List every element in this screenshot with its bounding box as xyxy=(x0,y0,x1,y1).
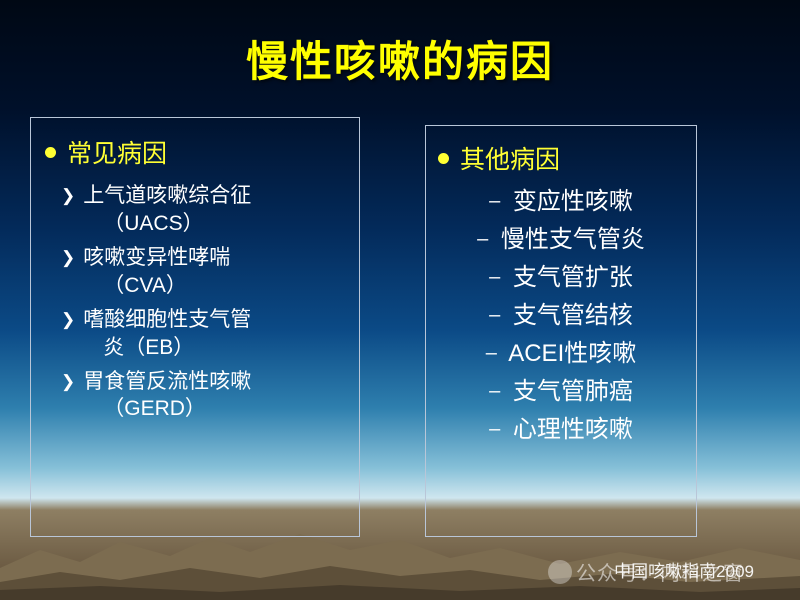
dash-icon: – xyxy=(477,228,488,250)
list-item-label: 变应性咳嗽 xyxy=(513,188,633,215)
dash-icon: – xyxy=(489,190,500,212)
list-item: ❯ 咳嗽变异性哮喘 （CVA） xyxy=(45,244,359,300)
list-item-label: ACEI性咳嗽 xyxy=(508,340,636,367)
left-box-heading-label: 常见病因 xyxy=(67,134,167,170)
list-item: – 支气管肺癌 xyxy=(426,380,696,404)
list-item: ❯ 胃食管反流性咳嗽 （GERD） xyxy=(45,368,359,424)
page-title: 慢性咳嗽的病因 xyxy=(0,28,800,89)
list-item-line2: （GERD） xyxy=(103,395,251,423)
watermark-logo-icon xyxy=(548,560,572,584)
list-item: – 支气管结核 xyxy=(426,304,696,328)
arrow-right-icon: ❯ xyxy=(61,309,75,332)
dash-icon: – xyxy=(486,342,497,364)
list-item-line1: 咳嗽变异性哮喘 xyxy=(83,246,230,269)
dash-icon: – xyxy=(489,380,500,402)
list-item: – 变应性咳嗽 xyxy=(426,190,696,214)
left-box-list: ❯ 上气道咳嗽综合征 （UACS） ❯ 咳嗽变异性哮喘 （CVA） ❯ 嗜酸细胞… xyxy=(45,182,359,423)
list-item: ❯ 上气道咳嗽综合征 （UACS） xyxy=(45,182,359,238)
list-item-line1: 嗜酸细胞性支气管 xyxy=(83,308,251,331)
list-item-label: 支气管肺癌 xyxy=(513,378,633,405)
footer-credit: 中国咳嗽指南2009 xyxy=(614,557,754,582)
left-content-box: 常见病因 ❯ 上气道咳嗽综合征 （UACS） ❯ 咳嗽变异性哮喘 （CVA） ❯ xyxy=(30,117,360,537)
slide: 慢性咳嗽的病因 常见病因 ❯ 上气道咳嗽综合征 （UACS） ❯ 咳嗽变异性哮喘… xyxy=(0,0,800,600)
dash-icon: – xyxy=(489,304,500,326)
list-item-label: 支气管扩张 xyxy=(513,264,633,291)
list-item: – 心理性咳嗽 xyxy=(426,418,696,442)
list-item: – 支气管扩张 xyxy=(426,266,696,290)
list-item-line1: 胃食管反流性咳嗽 xyxy=(83,370,251,393)
right-content-box: 其他病因 – 变应性咳嗽 – 慢性支气管炎 – 支气管扩张 – 支气管结核 – … xyxy=(425,125,697,537)
left-box-heading: 常见病因 xyxy=(45,134,359,170)
list-item-line2: （UACS） xyxy=(103,210,251,238)
list-item-line1: 上气道咳嗽综合征 xyxy=(83,184,251,207)
right-box-heading: 其他病因 xyxy=(438,140,696,176)
list-item-line2: （CVA） xyxy=(103,272,230,300)
arrow-right-icon: ❯ xyxy=(61,371,75,394)
right-box-list: – 变应性咳嗽 – 慢性支气管炎 – 支气管扩张 – 支气管结核 – ACEI性… xyxy=(426,190,696,442)
bullet-dot-icon xyxy=(438,153,449,164)
list-item-label: 慢性支气管炎 xyxy=(501,226,645,253)
right-box-heading-label: 其他病因 xyxy=(460,140,560,176)
list-item-label: 心理性咳嗽 xyxy=(513,416,633,443)
list-item: – ACEI性咳嗽 xyxy=(426,342,696,366)
arrow-right-icon: ❯ xyxy=(61,247,75,270)
list-item: – 慢性支气管炎 xyxy=(426,228,696,252)
list-item-label: 支气管结核 xyxy=(513,302,633,329)
list-item-line2: 炎（EB） xyxy=(103,334,251,362)
dash-icon: – xyxy=(489,418,500,440)
dash-icon: – xyxy=(489,266,500,288)
list-item: ❯ 嗜酸细胞性支气管 炎（EB） xyxy=(45,306,359,362)
bullet-dot-icon xyxy=(45,147,56,158)
arrow-right-icon: ❯ xyxy=(61,185,75,208)
